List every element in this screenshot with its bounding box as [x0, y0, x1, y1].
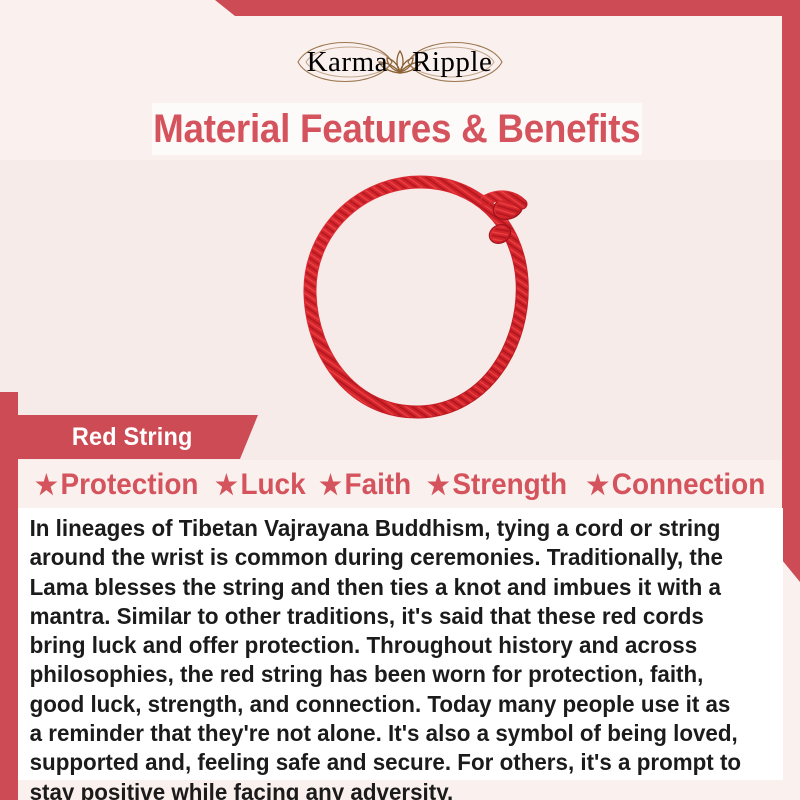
brand-name-right: Ripple — [412, 46, 492, 78]
right-red-accent-strip — [782, 16, 800, 582]
infographic-card: Karma Ripple Material Features & Benefit… — [0, 0, 800, 800]
star-icon: ★ — [319, 472, 342, 499]
brand-name-left: Karma — [307, 46, 388, 78]
feature-list: ★ Protection ★ Luck ★ Faith ★ Strength ★… — [18, 462, 783, 508]
brand-logo-mark: Karma Ripple — [240, 30, 560, 94]
feature-label: Faith — [345, 468, 412, 502]
feature-item: ★ Strength — [420, 468, 567, 502]
feature-item: ★ Luck — [208, 468, 305, 502]
feature-item: ★ Protection — [35, 468, 198, 502]
feature-label: Protection — [61, 468, 199, 502]
page-title: Material Features & Benefits — [153, 109, 640, 149]
description-panel: In lineages of Tibetan Vajrayana Buddhis… — [18, 508, 783, 780]
feature-item: ★ Faith — [313, 468, 411, 502]
feature-label: Strength — [452, 468, 567, 502]
feature-label: Connection — [611, 468, 764, 502]
brand-logo: Karma Ripple — [0, 30, 800, 94]
red-string-bracelet-illustration — [250, 160, 590, 460]
star-icon: ★ — [586, 472, 609, 499]
page-title-band: Material Features & Benefits — [152, 103, 642, 155]
left-red-accent-strip — [0, 392, 18, 800]
feature-label: Luck — [240, 468, 305, 502]
description-text: In lineages of Tibetan Vajrayana Buddhis… — [18, 508, 756, 800]
star-icon: ★ — [427, 472, 450, 499]
feature-item: ★ Connection — [579, 468, 764, 502]
star-icon: ★ — [35, 472, 58, 499]
product-image — [250, 160, 590, 460]
material-name-label: Red String — [72, 423, 193, 452]
top-red-accent-bar — [0, 0, 800, 16]
star-icon: ★ — [215, 472, 238, 499]
material-name-banner: Red String — [18, 415, 258, 459]
